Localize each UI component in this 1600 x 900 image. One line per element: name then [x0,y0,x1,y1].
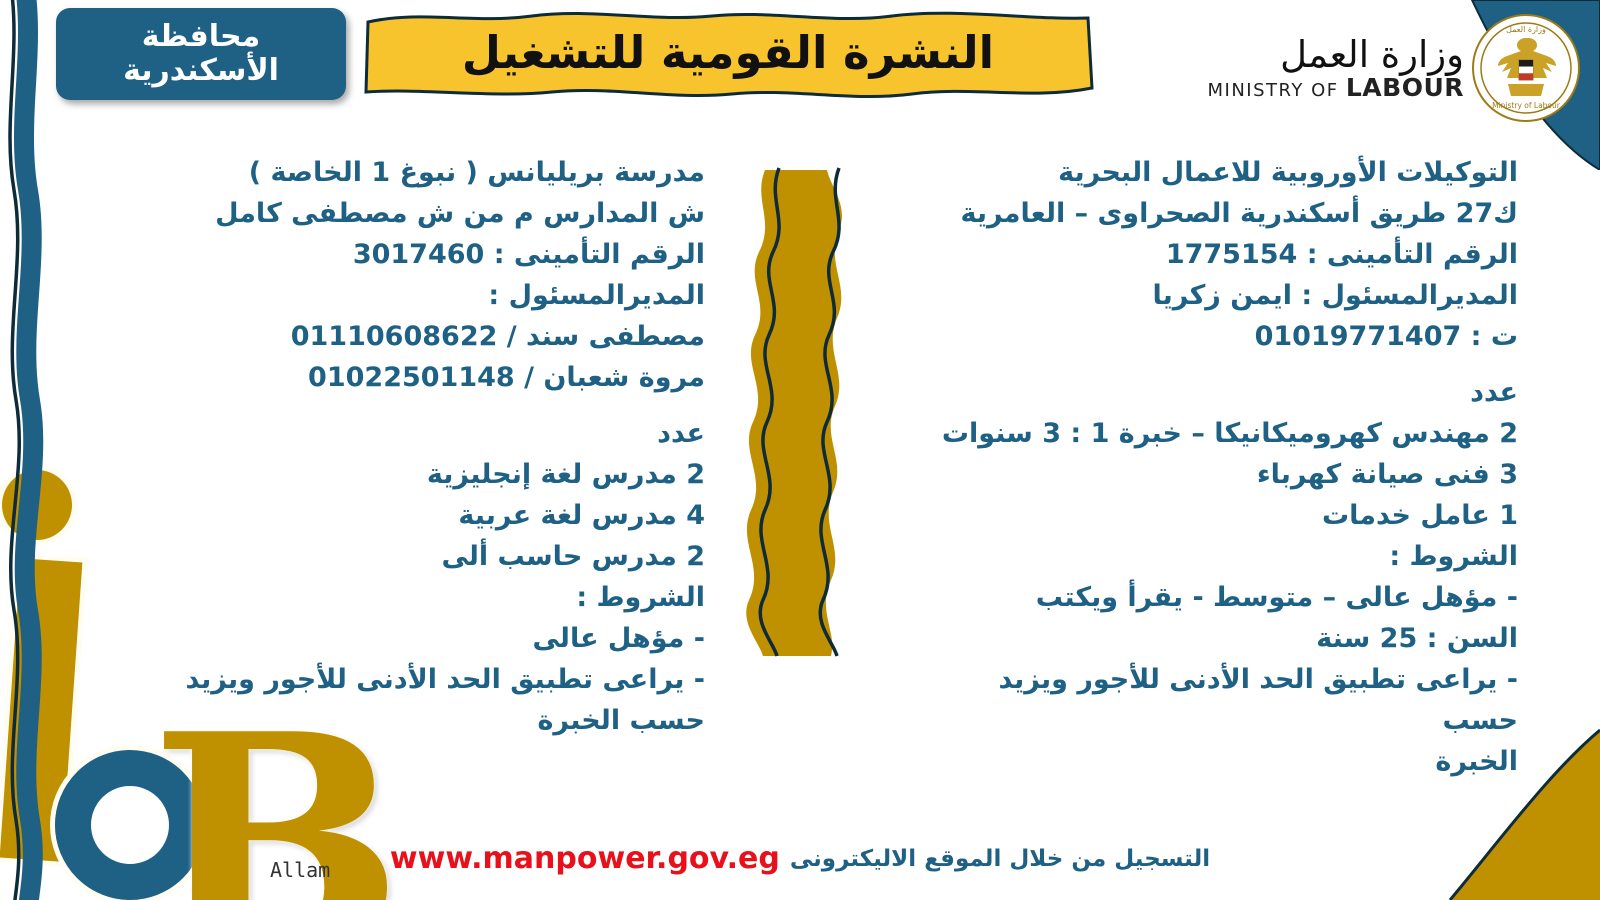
company-address: ك27 طريق أسكندرية الصحراوى – العامرية [918,193,1518,234]
vacancy-item: 2 مدرس حاسب ألى [160,536,705,577]
registration-note: التسجيل من خلال الموقع الاليكترونى [790,846,1210,872]
conditions-label: الشروط : [160,577,705,618]
ministry-en-main: LABOUR [1346,73,1464,102]
contact-person: مصطفى سند / 01110608622 [160,316,705,357]
governorate-badge: محافظة الأسكندرية [56,8,346,100]
vacancy-item: 2 مهندس كهروميكانيكا – خبرة 1 : 3 سنوات [918,413,1518,454]
poster-canvas: B محافظة الأسكندرية النشرة القومية للتشغ… [0,0,1600,900]
svg-text:Ministry of Labour: Ministry of Labour [1492,101,1561,110]
vacancy-item: 3 فنى صيانة كهرباء [918,454,1518,495]
bulletin-title-banner: النشرة القومية للتشغيل [352,8,1104,100]
center-wavy-divider-decoration [735,160,855,660]
contact-phone: ت : 01019771407 [918,316,1518,357]
condition-item: السن : 25 سنة [918,618,1518,659]
company-address: ش المدارس م من ش مصطفى كامل [160,193,705,234]
condition-item: حسب الخبرة [160,700,705,741]
company-name: التوكيلات الأوروبية للاعمال البحرية [918,152,1518,193]
condition-item: الخبرة [918,741,1518,782]
egypt-eagle-emblem-icon: وزارة العمل Ministry of Labour [1470,12,1582,124]
ministry-name-arabic: وزارة العمل [1280,36,1464,73]
watermark-letter-c [55,750,205,900]
listing-left: مدرسة بريليانس ( نبوغ 1 الخاصة ) ش المدا… [160,152,705,741]
condition-item: - مؤهل عالى [160,618,705,659]
spacer [918,357,1518,372]
left-wavy-band-decoration [0,0,46,900]
insurance-number: الرقم التأمينى : 1775154 [918,234,1518,275]
listing-right: التوكيلات الأوروبية للاعمال البحرية ك27 … [918,152,1518,782]
responsible-manager: المديرالمسئول : [160,275,705,316]
ministry-logo: وزارة العمل MINISTRY OF LABOUR وزارة الع… [1207,8,1582,128]
responsible-manager: المديرالمسئول : ايمن زكريا [918,275,1518,316]
condition-item: - مؤهل عالى – متوسط - يقرأ ويكتب [918,577,1518,618]
vacancy-item: 1 عامل خدمات [918,495,1518,536]
footer-bar: التسجيل من خلال الموقع الاليكترونى www.m… [0,841,1600,876]
vacancy-item: 2 مدرس لغة إنجليزية [160,454,705,495]
spacer [160,398,705,413]
vacancy-item: 4 مدرس لغة عربية [160,495,705,536]
page-title: النشرة القومية للتشغيل [352,8,1104,100]
ministry-name-english: MINISTRY OF LABOUR [1207,75,1464,100]
vacancy-count-label: عدد [160,413,705,454]
governorate-label-line2: الأسكندرية [123,54,279,88]
svg-text:وزارة العمل: وزارة العمل [1506,25,1546,34]
condition-item: - يراعى تطبيق الحد الأدنى للأجور ويزيد ح… [918,659,1518,741]
conditions-label: الشروط : [918,536,1518,577]
contact-person: مروة شعبان / 01022501148 [160,357,705,398]
condition-item: - يراعى تطبيق الحد الأدنى للأجور ويزيد [160,659,705,700]
ministry-en-prefix: MINISTRY OF [1207,80,1338,101]
governorate-label-line1: محافظة [142,20,261,54]
registration-url[interactable]: www.manpower.gov.eg [390,841,780,876]
vacancy-count-label: عدد [918,372,1518,413]
insurance-number: الرقم التأمينى : 3017460 [160,234,705,275]
designer-signature: Allam [270,858,330,882]
company-name: مدرسة بريليانس ( نبوغ 1 الخاصة ) [160,152,705,193]
ministry-logo-text: وزارة العمل MINISTRY OF LABOUR [1207,36,1464,100]
